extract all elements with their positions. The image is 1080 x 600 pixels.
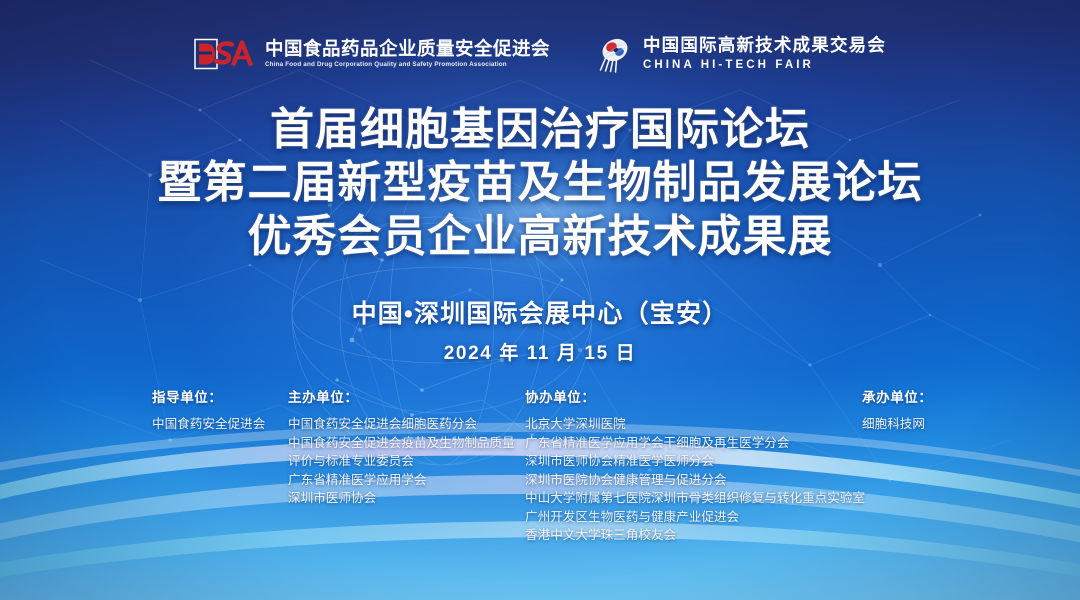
event-date-text: 2024 年 11 月 15 日 bbox=[0, 338, 1080, 365]
organizer-item: 中国食药安全促进会细胞医药分会 bbox=[288, 415, 515, 434]
china-hi-tech-fair-logo-icon bbox=[596, 35, 634, 73]
organizer-item: 中国食药安全促进会疫苗及生物制品质量 bbox=[288, 434, 515, 453]
organizer-item: 北京大学深圳医院 bbox=[525, 415, 865, 434]
venue-text: 中国•深圳国际会展中心（宝安） bbox=[0, 294, 1080, 330]
organizer-heading: 协办单位： bbox=[525, 386, 865, 406]
hitech-logo-block: 中国国际高新技术成果交易会 CHINA HI-TECH FAIR bbox=[596, 35, 886, 73]
header-logo-bar: 中国食品药品企业质量安全促进会 China Food and Drug Corp… bbox=[0, 26, 1080, 82]
organizer-item: 深圳市医师协会 bbox=[288, 489, 515, 508]
organizer-columns: 指导单位： 中国食药安全促进会 主办单位： 中国食药安全促进会细胞医药分会 中国… bbox=[0, 386, 1080, 546]
organizer-column-host: 主办单位： 中国食药安全促进会细胞医药分会 中国食药安全促进会疫苗及生物制品质量… bbox=[288, 386, 515, 508]
organizer-column-coorganizer: 协办单位： 北京大学深圳医院 广东省精准医学应用学会干细胞及再生医学分会 深圳市… bbox=[525, 386, 865, 545]
organizer-column-undertaker: 承办单位： 细胞科技网 bbox=[862, 386, 933, 434]
poster-title-group: 首届细胞基因治疗国际论坛 暨第二届新型疫苗及生物制品发展论坛 优秀会员企业高新技… bbox=[0, 104, 1080, 264]
organizer-column-guidance: 指导单位： 中国食药安全促进会 bbox=[152, 386, 265, 434]
cdsa-logo-block: 中国食品药品企业质量安全促进会 China Food and Drug Corp… bbox=[194, 37, 550, 71]
cdsa-logo-title-en: China Food and Drug Corporation Quality … bbox=[265, 62, 550, 68]
cdsa-monogram-logo-icon bbox=[194, 37, 256, 71]
organizer-item: 广东省精准医学应用学会 bbox=[288, 471, 515, 490]
organizer-item: 深圳市医院协会健康管理与促进分会 bbox=[525, 471, 865, 490]
poster-canvas: 中国食品药品企业质量安全促进会 China Food and Drug Corp… bbox=[0, 0, 1080, 600]
organizer-item: 评价与标准专业委员会 bbox=[288, 452, 515, 471]
hitech-logo-title-en: CHINA HI-TECH FAIR bbox=[643, 60, 886, 72]
organizer-item: 深圳市医师协会精准医学医师分会 bbox=[525, 452, 865, 471]
organizer-item: 细胞科技网 bbox=[862, 415, 933, 434]
title-line-3: 优秀会员企业高新技术成果展 bbox=[0, 210, 1080, 264]
cdsa-logo-title-cn: 中国食品药品企业质量安全促进会 bbox=[265, 40, 550, 59]
organizer-heading: 主办单位： bbox=[288, 386, 515, 406]
title-line-2: 暨第二届新型疫苗及生物制品发展论坛 bbox=[0, 156, 1080, 210]
organizer-item: 中国食药安全促进会 bbox=[152, 415, 265, 434]
organizer-heading: 指导单位： bbox=[152, 386, 265, 406]
organizer-item: 广州开发区生物医药与健康产业促进会 bbox=[525, 508, 865, 527]
organizer-item: 广东省精准医学应用学会干细胞及再生医学分会 bbox=[525, 434, 865, 453]
organizer-heading: 承办单位： bbox=[862, 386, 933, 406]
hitech-logo-title-cn: 中国国际高新技术成果交易会 bbox=[643, 37, 886, 55]
organizer-item: 香港中文大学珠三角校友会 bbox=[525, 526, 865, 545]
organizer-item: 中山大学附属第七医院深圳市骨类组织修复与转化重点实验室 bbox=[525, 489, 865, 508]
title-line-1: 首届细胞基因治疗国际论坛 bbox=[0, 104, 1080, 156]
